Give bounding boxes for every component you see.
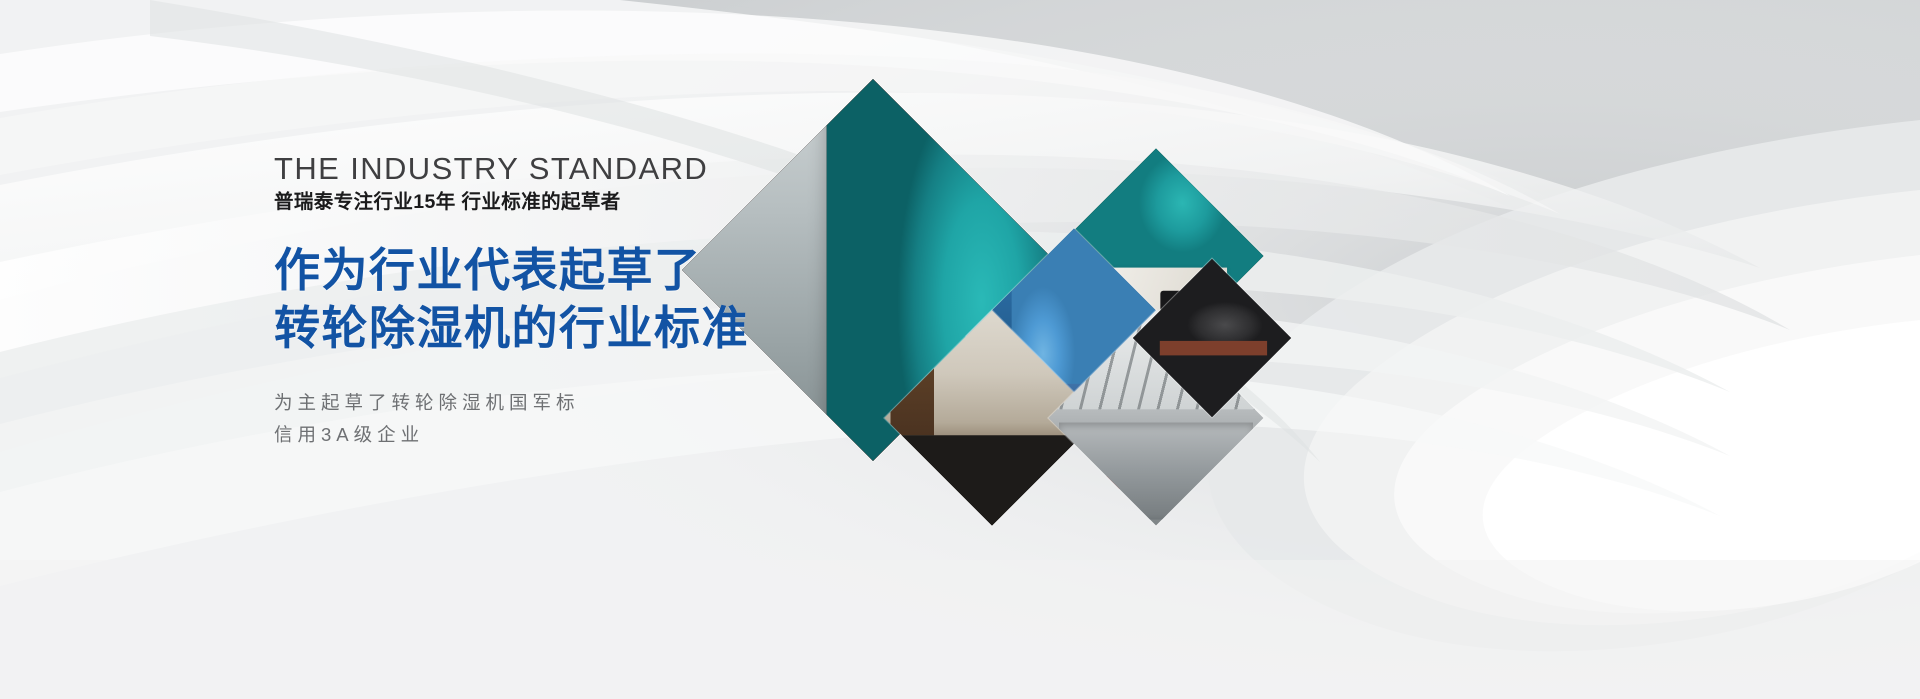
hero-text-block: THE INDUSTRY STANDARD 普瑞泰专注行业15年 行业标准的起草… <box>274 152 914 450</box>
headline-line-2: 转轮除湿机的行业标准 <box>274 300 914 358</box>
eyebrow-chinese: 普瑞泰专注行业15年 行业标准的起草者 <box>274 190 914 214</box>
hero-banner: THE INDUSTRY STANDARD 普瑞泰专注行业15年 行业标准的起草… <box>0 0 1920 699</box>
subtext-line-2: 信用3A级企业 <box>274 419 914 451</box>
hero-subtext: 为主起草了转轮除湿机国军标 信用3A级企业 <box>274 387 914 451</box>
page-title: 作为行业代表起草了 转轮除湿机的行业标准 <box>274 242 914 358</box>
factory-banner-accent <box>1077 475 1178 488</box>
eyebrow-english: THE INDUSTRY STANDARD <box>274 152 914 185</box>
subtext-line-1: 为主起草了转轮除湿机国军标 <box>274 387 914 419</box>
headline-line-1: 作为行业代表起草了 <box>274 242 914 300</box>
